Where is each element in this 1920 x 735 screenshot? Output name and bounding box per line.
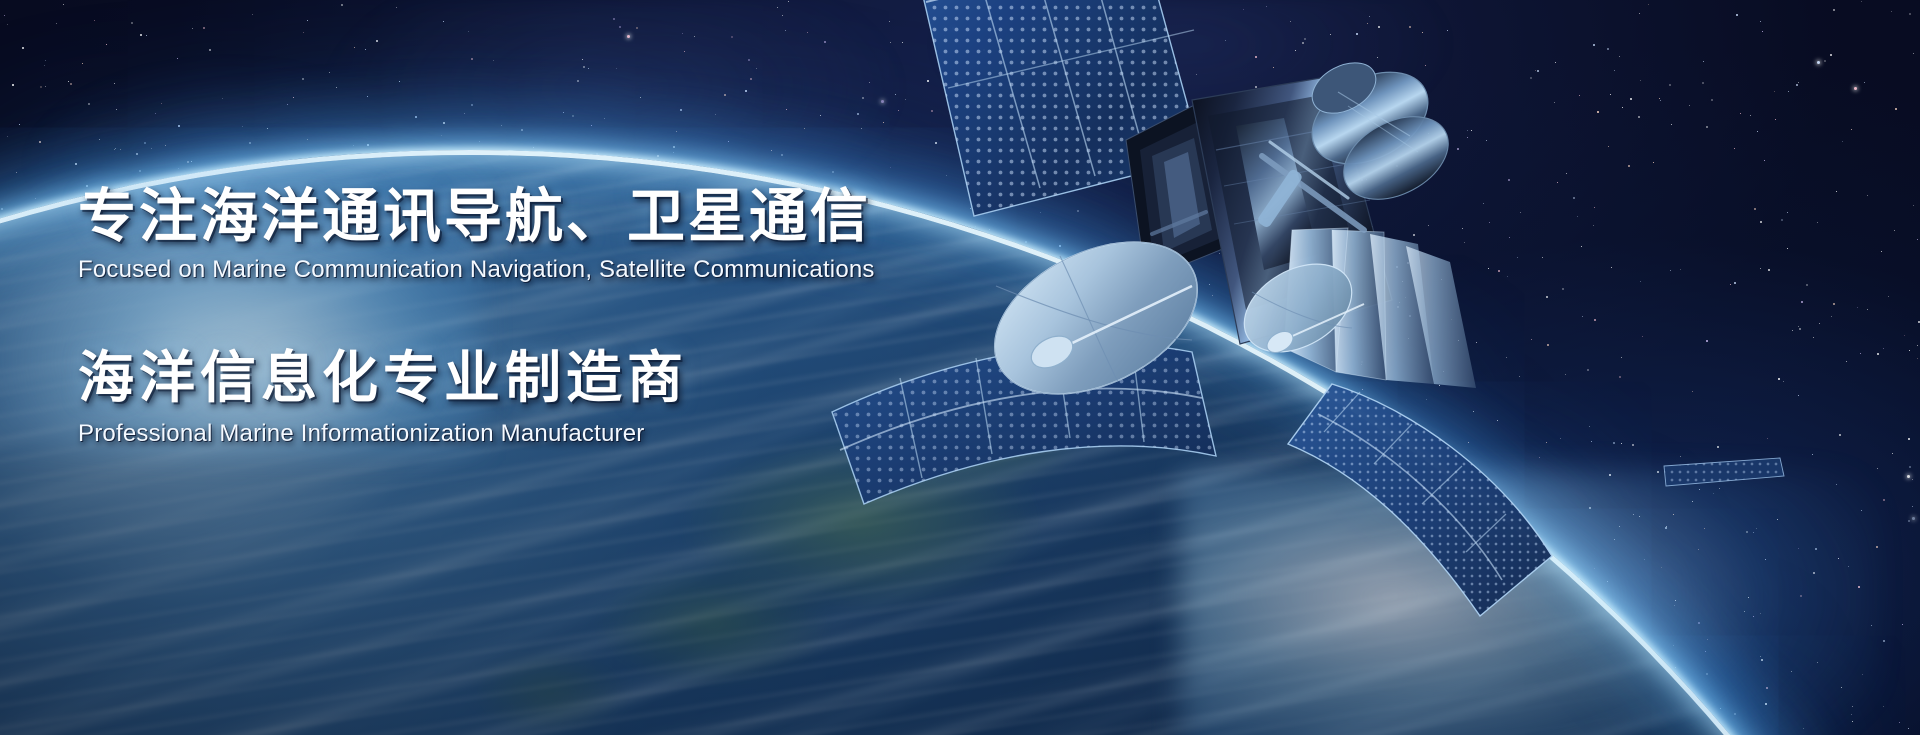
copy-block-informationization-manufacturer: 海洋信息化专业制造商 Professional Marine Informati…	[78, 348, 1078, 447]
banner-copy: 专注海洋通讯导航、卫星通信 Focused on Marine Communic…	[78, 186, 1078, 448]
headline-primary: 专注海洋通讯导航、卫星通信	[78, 186, 1078, 247]
hero-banner: 专注海洋通讯导航、卫星通信 Focused on Marine Communic…	[0, 0, 1920, 735]
subline-secondary: Professional Marine Informationization M…	[78, 420, 1078, 448]
copy-block-marine-communication: 专注海洋通讯导航、卫星通信 Focused on Marine Communic…	[78, 186, 1078, 284]
headline-secondary: 海洋信息化专业制造商	[78, 348, 1078, 407]
subline-primary: Focused on Marine Communication Navigati…	[78, 256, 1078, 284]
